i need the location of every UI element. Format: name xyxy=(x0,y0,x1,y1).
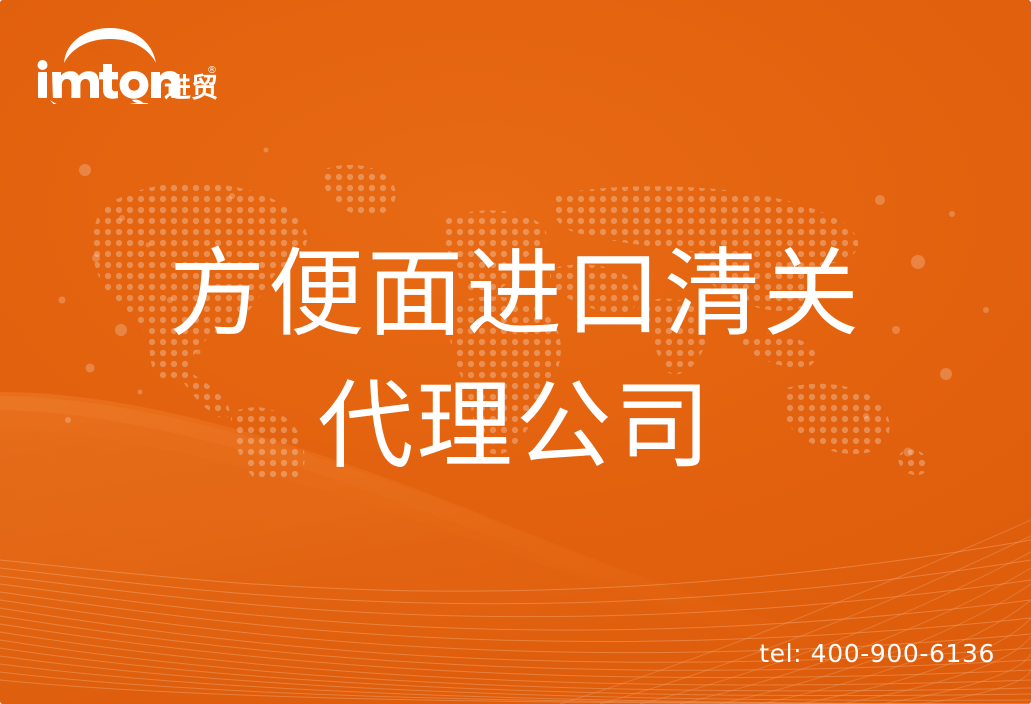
headline-line-2: 代理公司 xyxy=(0,360,1031,492)
headline: 方便面进口清关 代理公司 xyxy=(0,228,1031,493)
globe-arc-icon xyxy=(64,28,156,63)
plane-swoosh-icon xyxy=(50,100,156,104)
logo-graphic: 进贸通 ® xyxy=(36,26,218,104)
company-logo[interactable]: 进贸通 ® xyxy=(36,26,218,104)
contact-phone[interactable]: tel: 400-900-6136 xyxy=(759,639,995,668)
logo-chinese-name: 进贸通 xyxy=(164,73,218,104)
promo-banner: 进贸通 ® 方便面进口清关 代理公司 tel: 400-900-6136 xyxy=(0,0,1031,704)
wordmark-imton xyxy=(38,60,181,99)
registered-trademark-icon: ® xyxy=(207,65,217,76)
headline-line-1: 方便面进口清关 xyxy=(0,228,1031,360)
